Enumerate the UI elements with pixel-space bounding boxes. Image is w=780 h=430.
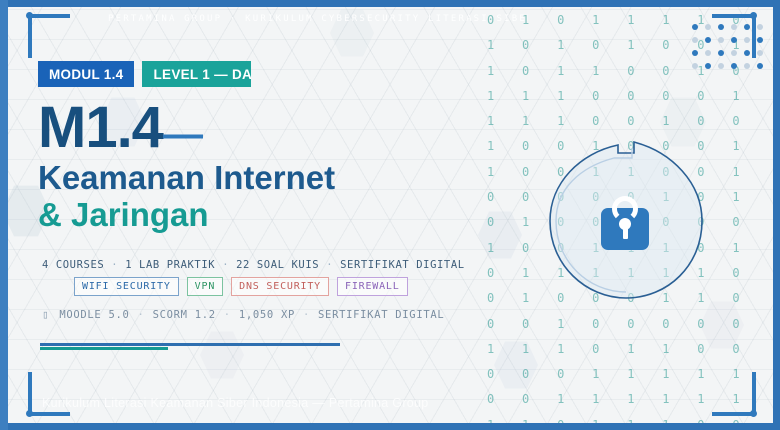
- title-code: M1.4: [38, 95, 163, 160]
- meta-item: 4 COURSES: [42, 259, 104, 271]
- matrix-dot: [731, 63, 737, 69]
- topic-tag[interactable]: WIFI SECURITY: [74, 277, 179, 296]
- title-underline-teal: [40, 347, 168, 350]
- tech-separator: ·: [295, 309, 318, 321]
- tech-spec-line: ▯ MOODLE 5.0·SCORM 1.2·1,050 XP·SERTIFIK…: [42, 308, 444, 321]
- matrix-dot: [692, 50, 698, 56]
- matrix-dot: [692, 37, 698, 43]
- topic-tag[interactable]: VPN: [187, 277, 223, 296]
- tech-item: SERTIFIKAT DIGITAL: [318, 309, 444, 321]
- padlock-keyhole-icon: [619, 218, 631, 230]
- topic-tag-row: WIFI SECURITYVPNDNS SECURITYFIREWALL: [74, 277, 408, 296]
- tech-item: MOODLE 5.0: [59, 309, 129, 321]
- matrix-dot: [718, 63, 724, 69]
- tech-separator: ·: [216, 309, 239, 321]
- matrix-dot: [705, 37, 711, 43]
- matrix-dot: [705, 63, 711, 69]
- watermark-bottom-text: Kurikulum Literasi Keamanan Siber Indone…: [42, 396, 429, 410]
- badge-row: MODUL 1.4 LEVEL 1 — DASAR: [38, 61, 251, 87]
- banner-content: PERTAMINA GROUP · KURIKULUM CYBERSECURIT…: [38, 0, 498, 430]
- matrix-dot: [705, 50, 711, 56]
- tech-item: 1,050 XP: [239, 309, 295, 321]
- title-code-line: M1.4—: [38, 100, 508, 156]
- tech-item: SCORM 1.2: [153, 309, 216, 321]
- tech-separator: ·: [130, 309, 153, 321]
- meta-item: SERTIFIKAT DIGITAL: [340, 259, 465, 271]
- right-accent-bar: [773, 0, 780, 430]
- course-meta-line: 4 COURSES·1 LAB PRAKTIK·22 SOAL KUIS·SER…: [42, 259, 465, 271]
- corner-bracket-bottom-right: [712, 372, 766, 416]
- matrix-dot: [705, 24, 711, 30]
- title-dash: —: [163, 112, 202, 156]
- matrix-dot: [692, 24, 698, 30]
- document-icon: ▯: [42, 308, 49, 321]
- topic-tag[interactable]: FIREWALL: [337, 277, 408, 296]
- title-line-2: Keamanan Internet: [38, 160, 508, 197]
- meta-item: 22 SOAL KUIS: [236, 259, 319, 271]
- title-underline: [40, 347, 340, 350]
- matrix-dot: [744, 63, 750, 69]
- badge-level[interactable]: LEVEL 1 — DASAR: [142, 61, 251, 87]
- corner-bracket-top-right: [712, 14, 766, 58]
- meta-item: 1 LAB PRAKTIK: [125, 259, 215, 271]
- page-title: M1.4— Keamanan Internet & Jaringan: [38, 100, 508, 234]
- meta-separator: ·: [215, 259, 236, 271]
- title-line-3: & Jaringan: [38, 197, 508, 234]
- matrix-dot: [757, 63, 763, 69]
- title-underline-blue: [40, 343, 340, 346]
- matrix-dot: [692, 63, 698, 69]
- tech-spec-items: MOODLE 5.0·SCORM 1.2·1,050 XP·SERTIFIKAT…: [59, 309, 444, 321]
- badge-module[interactable]: MODUL 1.4: [38, 61, 134, 87]
- meta-separator: ·: [104, 259, 125, 271]
- left-accent-bar: [0, 0, 8, 430]
- watermark-top-text: PERTAMINA GROUP · KURIKULUM CYBERSECURIT…: [108, 14, 528, 24]
- topic-tag[interactable]: DNS SECURITY: [231, 277, 329, 296]
- course-banner: 0 1 0 1 1 1 1 0 1 0 1 0 1 0 0 1 1 0 1 1 …: [0, 0, 780, 430]
- meta-separator: ·: [319, 259, 340, 271]
